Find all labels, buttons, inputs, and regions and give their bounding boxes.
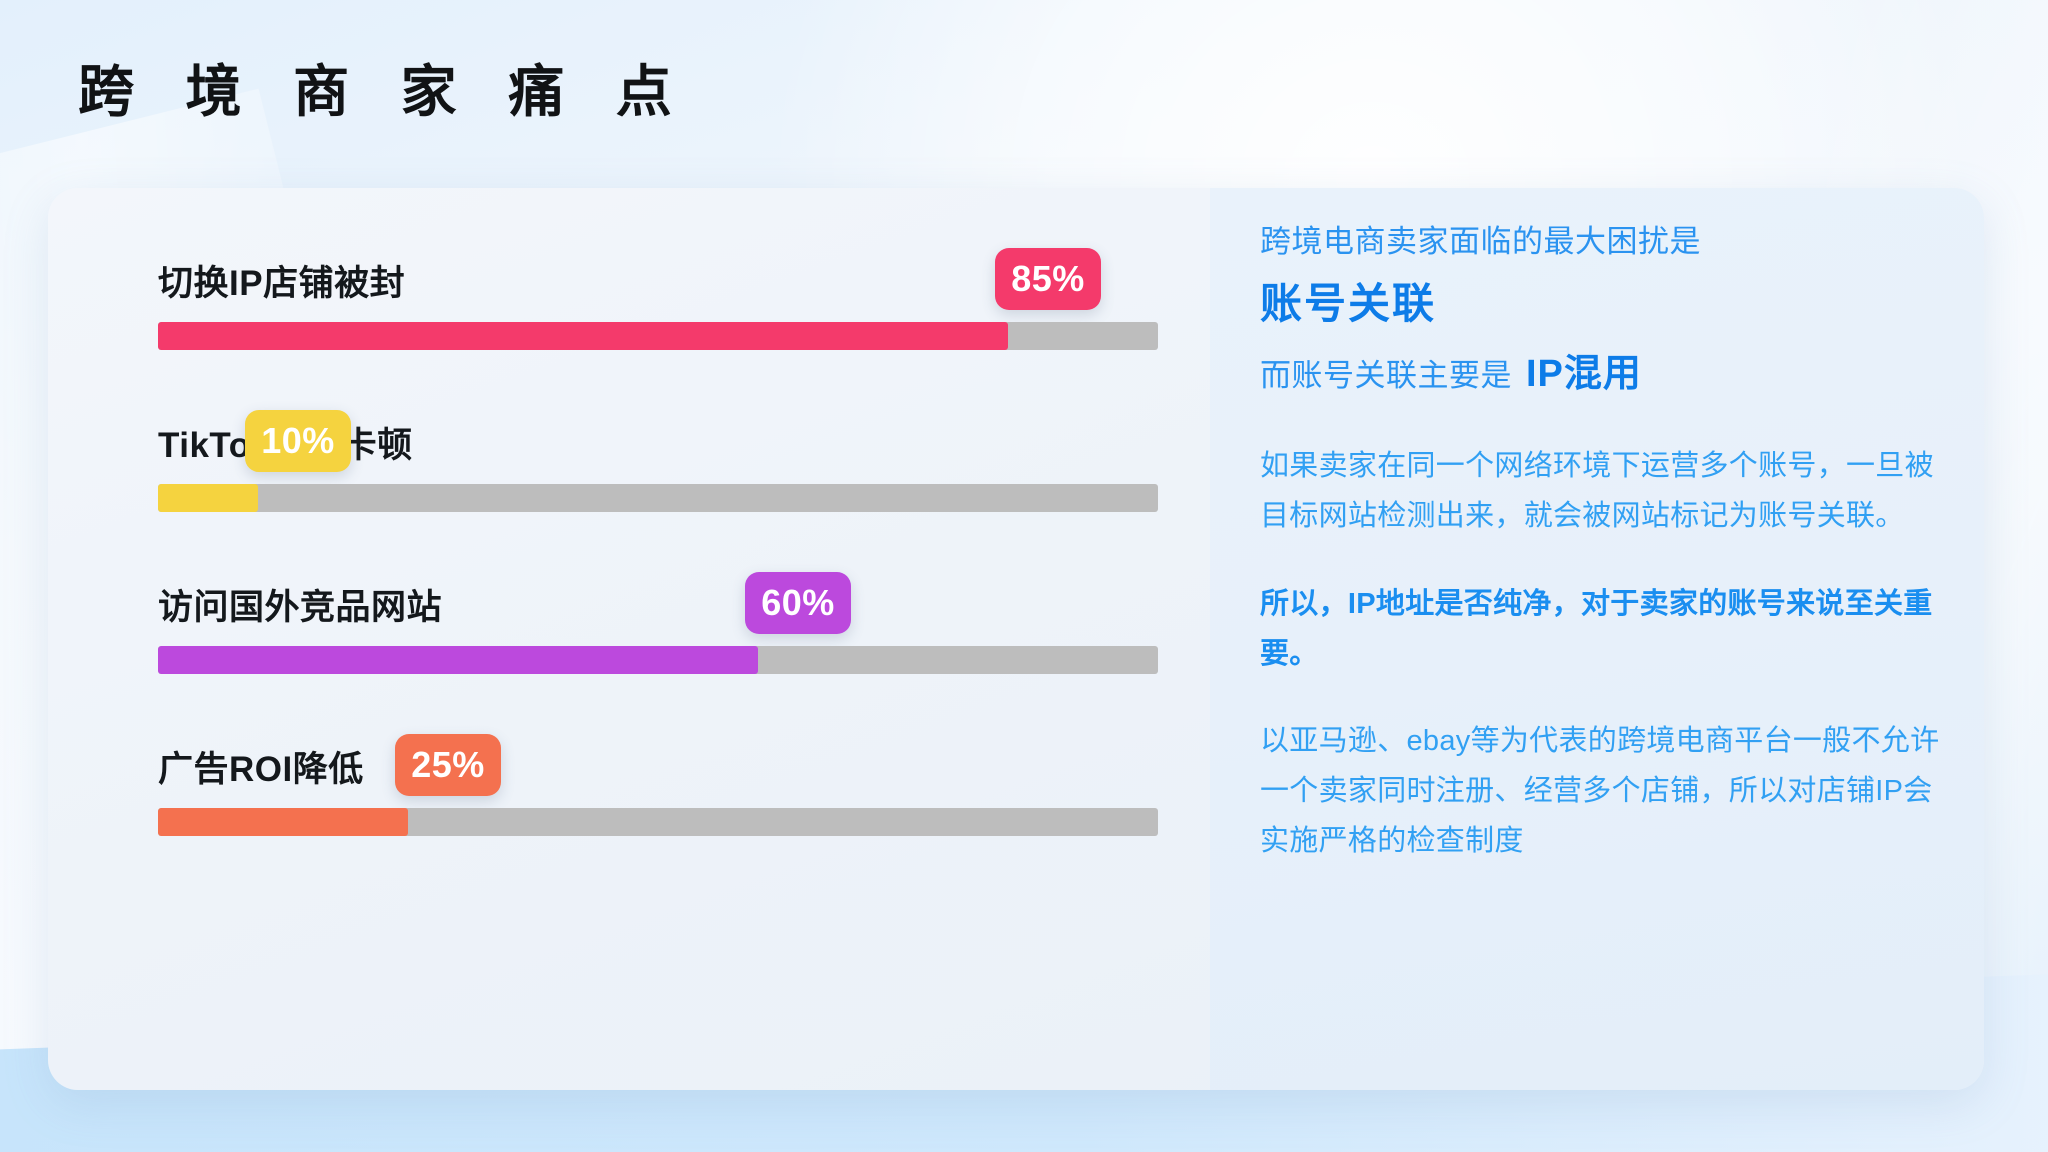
bar-row: 广告ROI降低 25% [158, 720, 1158, 836]
bar-value-badge: 25% [395, 734, 501, 796]
pain-point-bar-chart: 切换IP店铺被封 85% TikTok直播卡顿 10% 访问国外竞品网站 60% [48, 188, 1210, 1090]
bar-track [158, 646, 1158, 674]
headline: 账号关联 [1260, 272, 1960, 335]
bar-value-badge: 10% [245, 410, 351, 472]
bar-label: 访问国外竞品网站 [158, 579, 442, 630]
bar-header: 访问国外竞品网站 60% [158, 558, 1158, 636]
subline-prefix: 而账号关联主要是 [1260, 352, 1512, 400]
bar-track [158, 484, 1158, 512]
bar-fill [158, 484, 258, 512]
explanation-panel: 跨境电商卖家面临的最大困扰是 账号关联 而账号关联主要是 IP混用 如果卖家在同… [1210, 188, 1984, 1090]
intro-line: 跨境电商卖家面临的最大困扰是 [1260, 218, 1960, 266]
subline-strong: IP混用 [1526, 345, 1642, 404]
explanation-text: 跨境电商卖家面临的最大困扰是 账号关联 而账号关联主要是 IP混用 如果卖家在同… [1260, 218, 1960, 867]
paragraph-2: 所以，IP地址是否纯净，对于卖家的账号来说至关重要。 [1260, 580, 1960, 680]
paragraph-1: 如果卖家在同一个网络环境下运营多个账号，一旦被目标网站检测出来，就会被网站标记为… [1260, 442, 1960, 542]
page-title: 跨 境 商 家 痛 点 [78, 58, 690, 125]
bar-fill [158, 646, 758, 674]
bar-row: TikTok直播卡顿 10% [158, 396, 1158, 512]
bar-value-badge: 60% [745, 572, 851, 634]
bar-header: TikTok直播卡顿 10% [158, 396, 1158, 474]
bar-fill [158, 808, 408, 836]
paragraph-3: 以亚马逊、ebay等为代表的跨境电商平台一般不允许一个卖家同时注册、经营多个店铺… [1260, 717, 1960, 867]
bar-row: 访问国外竞品网站 60% [158, 558, 1158, 674]
bar-row: 切换IP店铺被封 85% [158, 234, 1158, 350]
bar-header: 切换IP店铺被封 85% [158, 234, 1158, 312]
bar-track [158, 808, 1158, 836]
bar-track [158, 322, 1158, 350]
bar-fill [158, 322, 1008, 350]
content-card: 切换IP店铺被封 85% TikTok直播卡顿 10% 访问国外竞品网站 60% [48, 188, 1984, 1090]
bar-header: 广告ROI降低 25% [158, 720, 1158, 798]
bar-label: 切换IP店铺被封 [158, 255, 405, 306]
subline: 而账号关联主要是 IP混用 [1260, 345, 1960, 404]
bar-label: 广告ROI降低 [158, 741, 364, 792]
bar-value-badge: 85% [995, 248, 1101, 310]
